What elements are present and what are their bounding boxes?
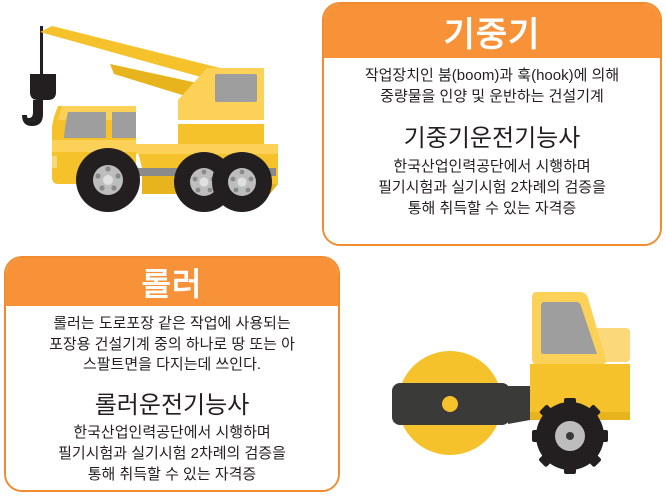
certification-description-crane: 한국산업인력공단에서 시행하며 필기시험과 실기시험 2차례의 검증을 통해 취… (330, 156, 654, 219)
certification-description-roller: 한국산업인력공단에서 시행하며 필기시험과 실기시험 2차례의 검증을 통해 취… (14, 422, 330, 485)
mobile-crane-truck-illustration (2, 8, 320, 238)
card-title-roller: 롤러 (6, 258, 338, 306)
certification-name-crane: 기중기운전기능사 (330, 125, 654, 153)
card-description-crane: 작업장치인 붐(boom)과 훅(hook)에 의해 중량물을 인양 및 운반하… (330, 66, 654, 107)
info-card-roller: 롤러 롤러는 도로포장 같은 작업에 사용되는 포장용 건설기계 중의 하나로 … (4, 256, 340, 492)
info-card-crane: 기중기 작업장치인 붐(boom)과 훅(hook)에 의해 중량물을 인양 및… (322, 2, 662, 246)
card-body-crane: 작업장치인 붐(boom)과 훅(hook)에 의해 중량물을 인양 및 운반하… (324, 58, 660, 244)
infographic-canvas: 기중기 작업장치인 붐(boom)과 훅(hook)에 의해 중량물을 인양 및… (0, 0, 666, 498)
card-title-crane: 기중기 (324, 4, 660, 58)
card-description-roller: 롤러는 도로포장 같은 작업에 사용되는 포장용 건설기계 중의 하나로 땅 또… (14, 314, 330, 376)
certification-name-roller: 롤러운전기능사 (14, 392, 330, 420)
card-body-roller: 롤러는 도로포장 같은 작업에 사용되는 포장용 건설기계 중의 하나로 땅 또… (6, 306, 338, 491)
road-roller-illustration (358, 258, 658, 492)
